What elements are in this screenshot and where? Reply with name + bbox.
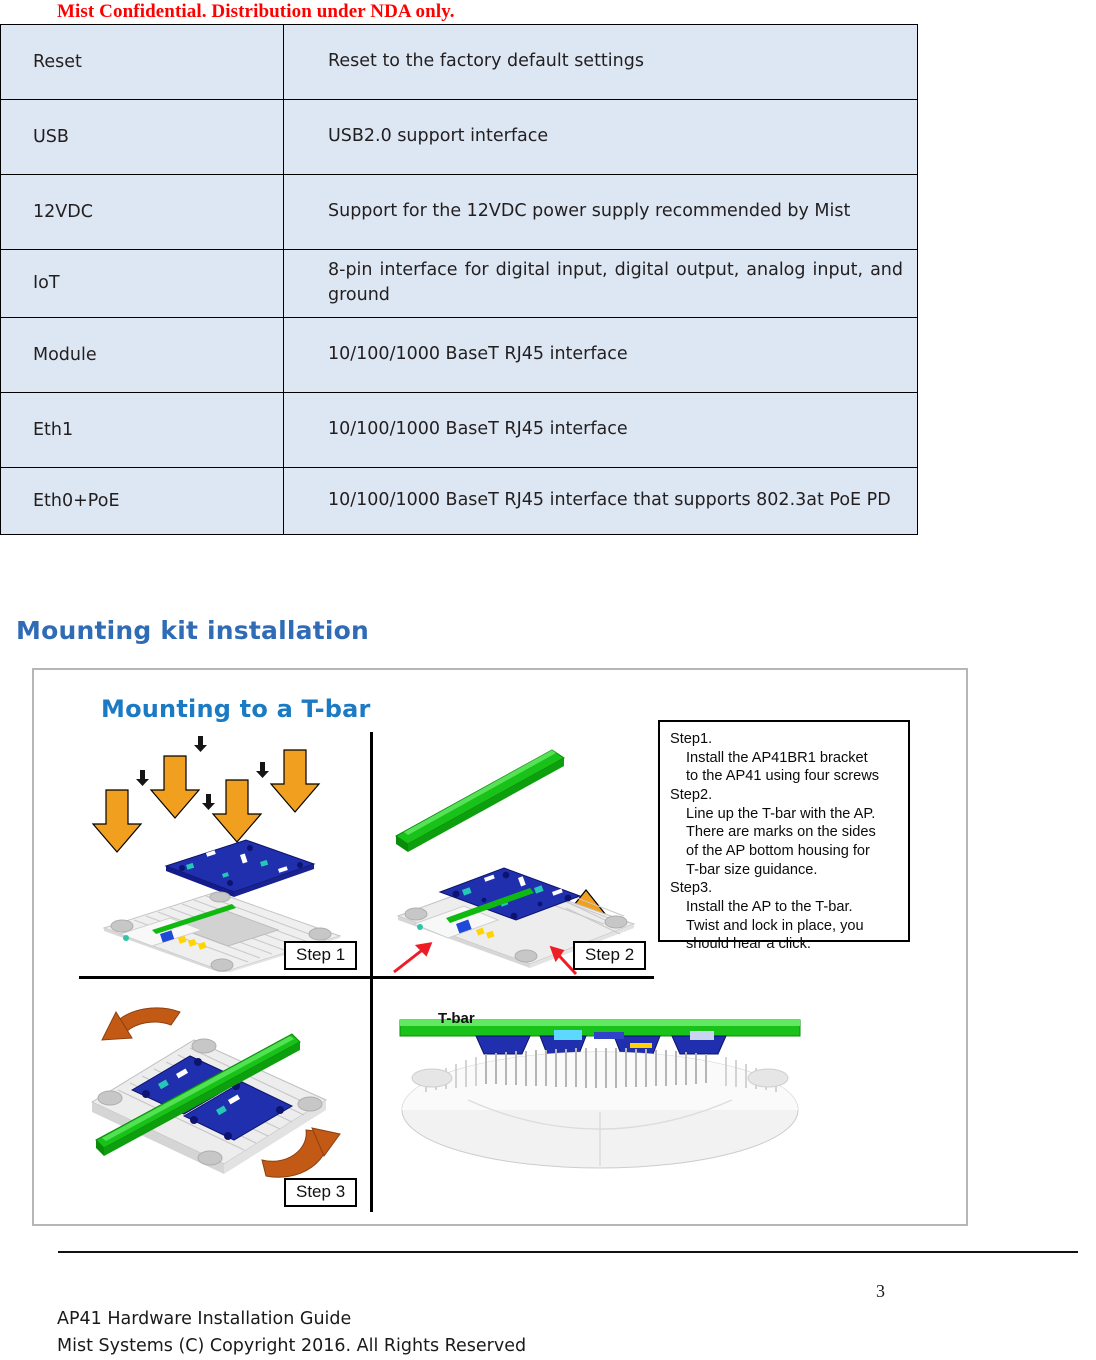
cell-text: USB2.0 support interface: [328, 124, 903, 149]
table-cell-description: Reset to the factory default settings: [284, 25, 918, 100]
step2-label: Step 2: [573, 941, 646, 970]
cell-text: 10/100/1000 BaseT RJ45 interface: [328, 417, 903, 442]
instruction-step-head: Step1.: [670, 730, 902, 749]
step2-illustration: [384, 728, 654, 976]
table-cell-description: Support for the 12VDC power supply recom…: [284, 175, 918, 250]
confidential-notice: Mist Confidential. Distribution under ND…: [57, 1, 455, 23]
table-cell-description: 10/100/1000 BaseT RJ45 interface: [284, 317, 918, 392]
table-cell-description: 10/100/1000 BaseT RJ45 interface: [284, 392, 918, 467]
step1-label: Step 1: [284, 941, 357, 970]
ap-chassis: [92, 1034, 326, 1174]
instruction-line: There are marks on the sides: [686, 823, 902, 842]
table-cell-label: 12VDC: [1, 175, 284, 250]
step3-label: Step 3: [284, 1178, 357, 1207]
footer-line-title: AP41 Hardware Installation Guide: [57, 1306, 526, 1333]
figure-title: Mounting to a T-bar: [101, 695, 371, 723]
instruction-line: Line up the T-bar with the AP.: [686, 805, 902, 824]
table-row: Reset Reset to the factory default setti…: [1, 25, 918, 100]
instruction-line: Install the AP41BR1 bracket: [686, 749, 902, 768]
table-cell-label: Eth0+PoE: [1, 467, 284, 534]
table-row: Module 10/100/1000 BaseT RJ45 interface: [1, 317, 918, 392]
table-row: 12VDC Support for the 12VDC power supply…: [1, 175, 918, 250]
footer-text: AP41 Hardware Installation Guide Mist Sy…: [57, 1306, 526, 1360]
table-row: Eth1 10/100/1000 BaseT RJ45 interface: [1, 392, 918, 467]
section-heading-mounting-kit-installation: Mounting kit installation: [16, 616, 369, 645]
footer-line-copyright: Mist Systems (C) Copyright 2016. All Rig…: [57, 1333, 526, 1360]
tbar-rail: [396, 750, 564, 852]
table-cell-description: 10/100/1000 BaseT RJ45 interface that su…: [284, 467, 918, 534]
bracket-plate: [166, 840, 314, 897]
cell-text: 10/100/1000 BaseT RJ45 interface: [328, 342, 903, 367]
page-number: 3: [876, 1281, 885, 1302]
ap-side-view-illustration: [390, 1000, 810, 1190]
mounting-figure: Mounting to a T-bar: [32, 668, 968, 1226]
instruction-line: to the AP41 using four screws: [686, 767, 902, 786]
table-cell-label: Eth1: [1, 392, 284, 467]
instructions-panel: Step1. Install the AP41BR1 bracket to th…: [658, 720, 910, 942]
cell-text: 10/100/1000 BaseT RJ45 interface that su…: [328, 488, 903, 513]
table-cell-description: USB2.0 support interface: [284, 100, 918, 175]
instruction-line: T-bar size guidance.: [686, 861, 902, 880]
tbar-label: T-bar: [438, 1010, 475, 1027]
figure-horizontal-divider: [79, 976, 654, 979]
table-cell-label: Reset: [1, 25, 284, 100]
port-specification-table: Reset Reset to the factory default setti…: [0, 24, 918, 535]
cell-text: Reset to the factory default settings: [328, 49, 903, 74]
table-cell-label: USB: [1, 100, 284, 175]
instruction-line: Twist and lock in place, you: [686, 917, 902, 936]
instruction-line: of the AP bottom housing for: [686, 842, 902, 861]
cell-text: Support for the 12VDC power supply recom…: [328, 199, 903, 224]
table-row: IoT 8-pin interface for digital input, d…: [1, 250, 918, 318]
table-row: Eth0+PoE 10/100/1000 BaseT RJ45 interfac…: [1, 467, 918, 534]
cell-text: 8-pin interface for digital input, digit…: [328, 258, 903, 309]
table-row: USB USB2.0 support interface: [1, 100, 918, 175]
instruction-step-head: Step3.: [670, 879, 902, 898]
instruction-line: should hear a click.: [686, 935, 902, 954]
table-cell-description: 8-pin interface for digital input, digit…: [284, 250, 918, 318]
instruction-line: Install the AP to the T-bar.: [686, 898, 902, 917]
footer-divider: [58, 1251, 1078, 1253]
step1-illustration: [74, 722, 364, 972]
table-cell-label: Module: [1, 317, 284, 392]
instruction-step-head: Step2.: [670, 786, 902, 805]
rotate-ccw-arrow-icon: [102, 1008, 180, 1040]
table-cell-label: IoT: [1, 250, 284, 318]
